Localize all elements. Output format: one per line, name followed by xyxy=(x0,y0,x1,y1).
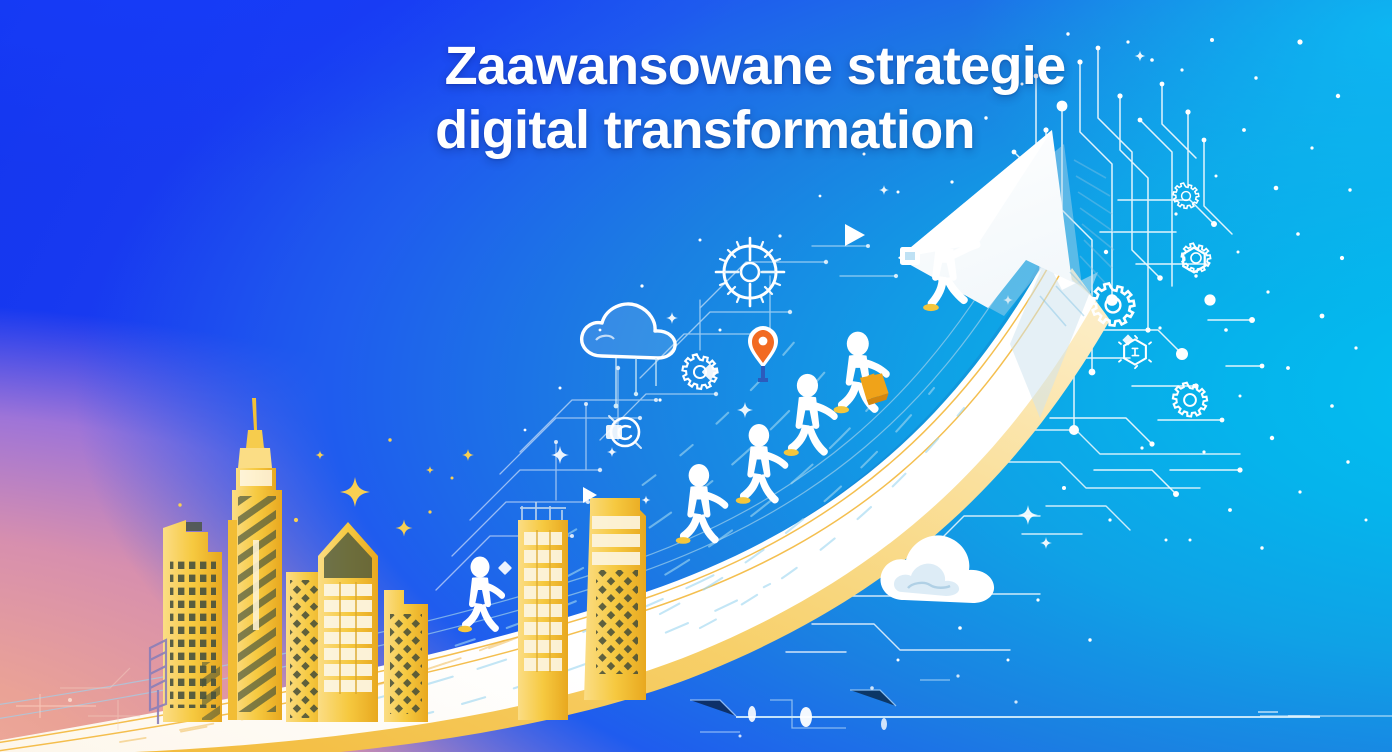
hero-banner: Zaawansowane strategie digital transform… xyxy=(0,0,1392,752)
vignette-overlay xyxy=(0,0,1392,752)
